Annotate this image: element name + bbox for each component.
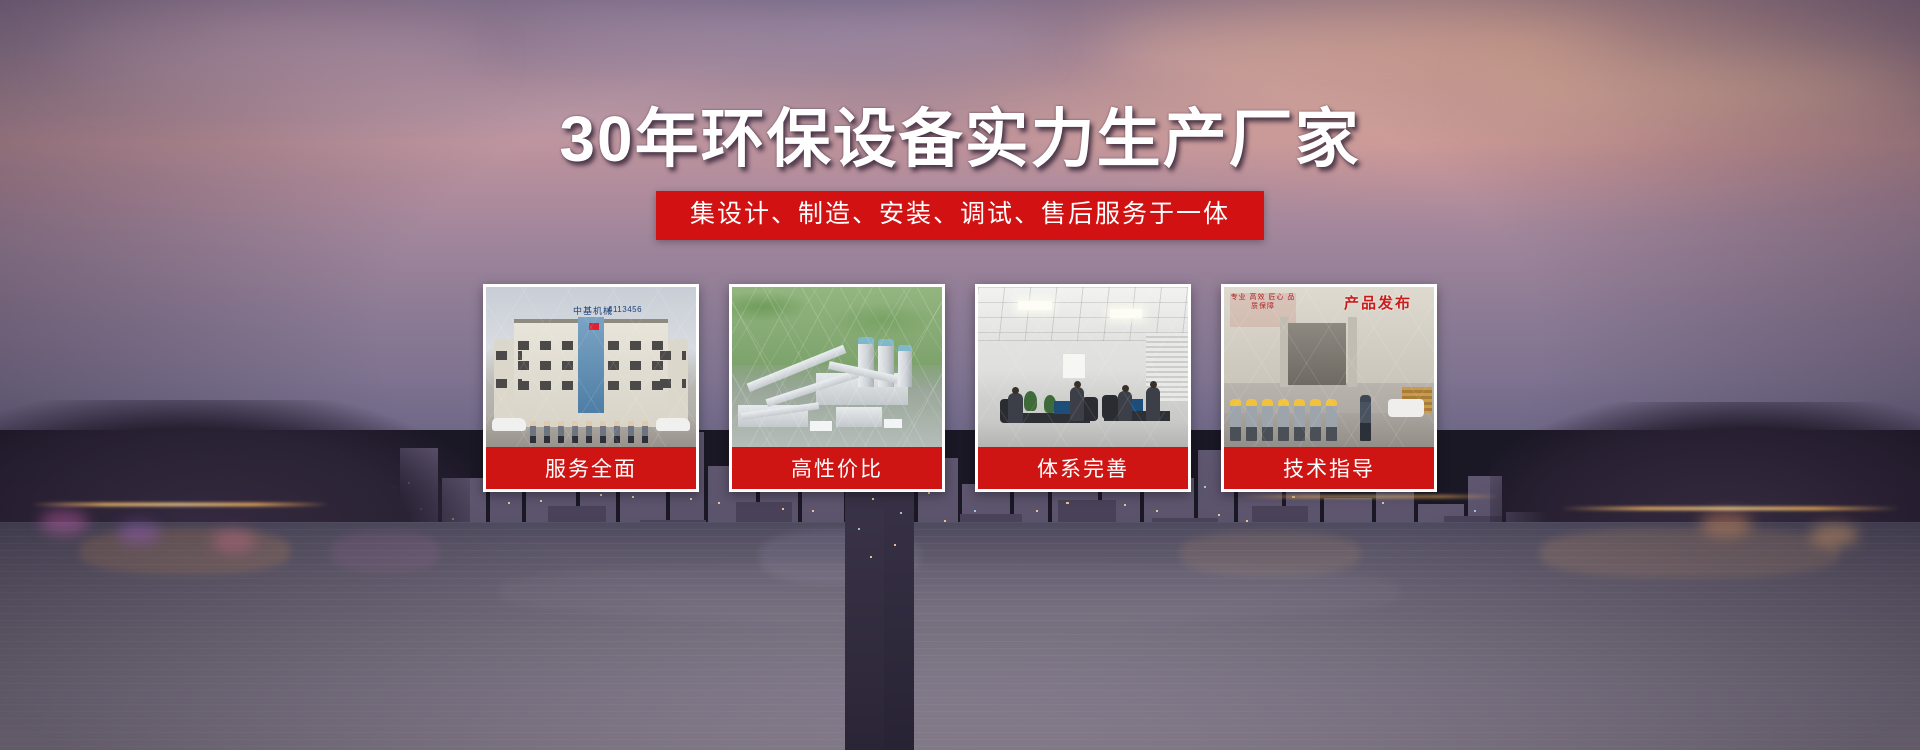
aerial-production-plant-photo: [732, 287, 942, 447]
company-office-building-photo: 中基机械 4113456: [486, 287, 696, 447]
hero-banner: 30年环保设备实力生产厂家 集设计、制造、安装、调试、售后服务于一体 中基机械 …: [0, 0, 1920, 750]
feature-card-label: 高性价比: [732, 447, 942, 489]
feature-card[interactable]: 中基机械 4113456: [483, 284, 699, 492]
office-meeting-room-photo: [978, 287, 1188, 447]
page-title: 30年环保设备实力生产厂家: [0, 104, 1920, 174]
building-phone-text: 4113456: [608, 305, 642, 314]
banner-content: 30年环保设备实力生产厂家 集设计、制造、安装、调试、售后服务于一体 中基机械 …: [0, 0, 1920, 750]
workshop-sign-text: 产品发布: [1326, 293, 1430, 315]
feature-card-label: 技术指导: [1224, 447, 1434, 489]
subtitle-container: 集设计、制造、安装、调试、售后服务于一体: [0, 191, 1920, 240]
feature-card[interactable]: 产品发布 专业 高效 匠心 品质保障: [1221, 284, 1437, 492]
feature-card-label: 体系完善: [978, 447, 1188, 489]
workshop-workers-photo: 产品发布 专业 高效 匠心 品质保障: [1224, 287, 1434, 447]
feature-card[interactable]: 高性价比: [729, 284, 945, 492]
feature-card-row: 中基机械 4113456: [0, 284, 1920, 492]
feature-card[interactable]: 体系完善: [975, 284, 1191, 492]
subtitle-badge: 集设计、制造、安装、调试、售后服务于一体: [656, 191, 1264, 240]
feature-card-label: 服务全面: [486, 447, 696, 489]
